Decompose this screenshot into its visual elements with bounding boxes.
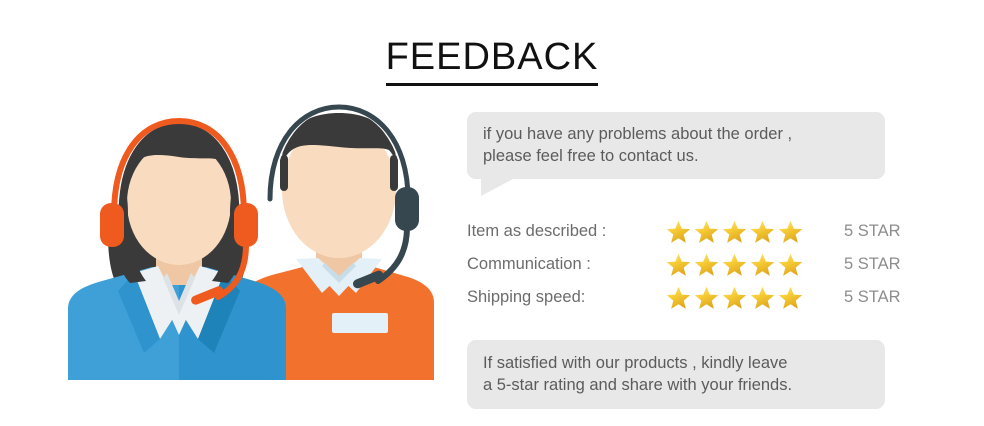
rating-row-shipping-speed: Shipping speed: 5 STAR [467,281,887,314]
leave-rating-bubble-text: If satisfied with our products , kindly … [483,352,869,396]
star-icon [749,219,776,245]
star-icon [749,252,776,278]
page-title-container: FEEDBACK [0,38,984,86]
star-icon [721,219,748,245]
feedback-content: if you have any problems about the order… [467,112,887,409]
star-rating-communication [665,252,815,278]
star-icon [665,219,692,245]
star-icon [721,252,748,278]
star-icon [693,219,720,245]
leave-rating-bubble: If satisfied with our products , kindly … [467,340,885,409]
woman-figure [68,121,286,380]
rating-value: 5 STAR [815,288,901,307]
star-icon [665,252,692,278]
rating-value: 5 STAR [815,222,901,241]
star-rating-item-as-described [665,219,815,245]
page-title: FEEDBACK [386,38,599,86]
star-icon [777,219,804,245]
feedback-banner: FEEDBACK [0,0,984,426]
star-icon [721,285,748,311]
rating-list: Item as described : 5 STAR Communication… [467,215,887,314]
rating-row-communication: Communication : 5 STAR [467,248,887,281]
support-agents-illustration [60,95,440,380]
star-icon [777,285,804,311]
speech-bubble-tail [481,178,515,196]
rating-value: 5 STAR [815,255,901,274]
rating-label: Item as described : [467,222,665,241]
star-icon [777,252,804,278]
star-rating-shipping-speed [665,285,815,311]
contact-us-bubble: if you have any problems about the order… [467,112,885,179]
star-icon [693,252,720,278]
contact-us-bubble-text: if you have any problems about the order… [483,123,869,167]
rating-label: Shipping speed: [467,288,665,307]
star-icon [693,285,720,311]
star-icon [665,285,692,311]
rating-label: Communication : [467,255,665,274]
rating-row-item-as-described: Item as described : 5 STAR [467,215,887,248]
star-icon [749,285,776,311]
